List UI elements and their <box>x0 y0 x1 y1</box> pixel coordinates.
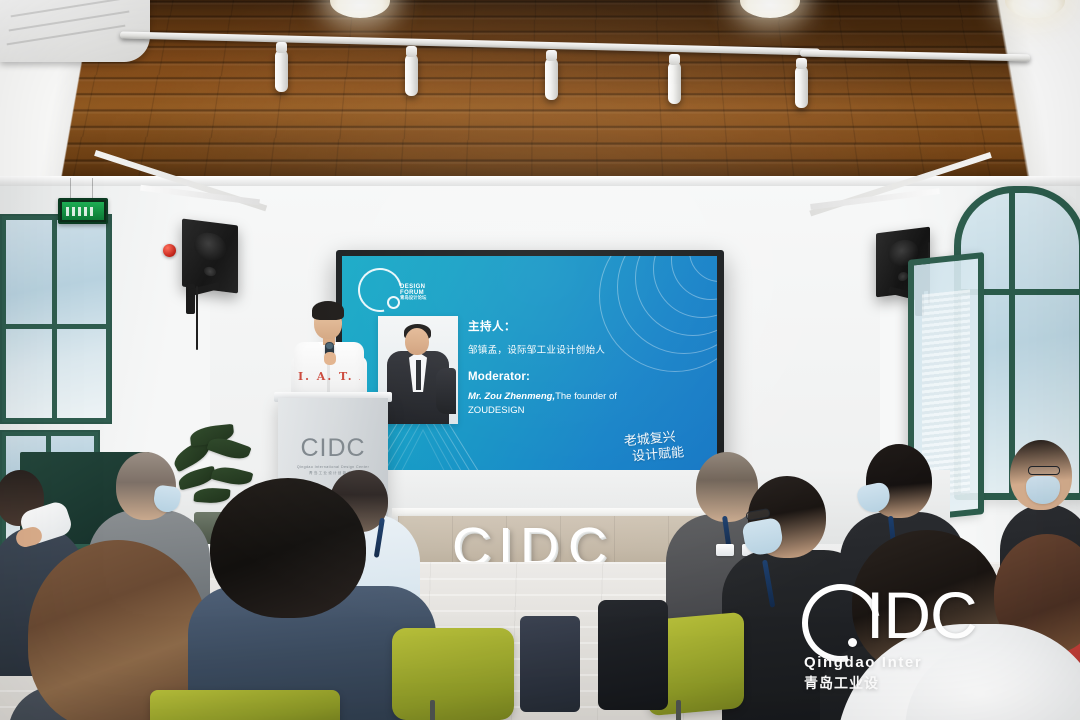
photo-head <box>405 328 429 355</box>
presenter-hand <box>324 352 336 365</box>
photo-tie <box>416 360 421 390</box>
conference-photo-scene: DESIGN FORUM 青岛设计论坛 主持人： 邹镇孟，设际邹工业设计创始人 … <box>0 0 1080 720</box>
photo-arm <box>436 368 456 414</box>
window-mullion <box>52 220 57 418</box>
exit-sign-wire <box>70 178 71 200</box>
presenter-speaking: I. A. T. A. <box>292 300 366 404</box>
watermark-english: Qingdao Inter <box>804 654 922 671</box>
wood-grain-overlay <box>0 0 1080 188</box>
speaker-left <box>182 219 238 294</box>
speaker-tweeter <box>898 272 909 282</box>
chair-front-left <box>150 690 340 720</box>
presenter-hair <box>312 301 344 320</box>
window-mullion <box>6 324 106 329</box>
moderator-photo <box>378 316 458 424</box>
chair-leg <box>676 700 681 720</box>
track-spotlight <box>545 58 558 100</box>
watermark-c-dot <box>848 638 857 647</box>
slide-canvas: DESIGN FORUM 青岛设计论坛 主持人： 邹镇孟，设际邹工业设计创始人 … <box>342 256 717 492</box>
podium-logo-subtitle-en: Qingdao International Design Center <box>296 465 370 469</box>
slide-text-block: 主持人： 邹镇孟，设际邹工业设计创始人 Moderator: Mr. Zou Z… <box>468 318 707 418</box>
attendee-glasses <box>1028 466 1060 475</box>
chair-leg <box>430 700 435 720</box>
watermark-chinese: 青岛工业设 <box>804 673 879 693</box>
track-spotlight <box>405 54 418 96</box>
design-forum-logo-text: DESIGN FORUM 青岛设计论坛 <box>400 284 426 301</box>
slide-en-name: Mr. Zou Zhenmeng, <box>468 391 555 402</box>
slide-en-body-1: The founder of <box>555 391 617 402</box>
track-spotlight <box>668 62 681 104</box>
track-spotlight <box>275 50 288 92</box>
wood-plank-ceiling <box>0 0 1080 188</box>
slide-cn-heading: 主持人： <box>468 318 707 334</box>
fire-alarm-light <box>163 244 176 257</box>
speaker-tweeter <box>204 266 215 277</box>
speaker-cable-left <box>196 286 198 350</box>
podium-logo-text: CIDC <box>296 436 370 461</box>
logo-dot <box>387 296 400 309</box>
exit-sign-wire <box>92 178 93 200</box>
track-spotlight <box>795 66 808 108</box>
ceiling-right-soffit <box>970 0 1080 200</box>
attendee-bag <box>520 616 580 712</box>
chair-center <box>392 628 514 720</box>
slide-en-heading: Moderator: <box>468 371 707 383</box>
slide-en-body: Mr. Zou Zhenmeng,The founder of ZOUDESIG… <box>468 390 707 418</box>
logo-line-3-cn: 青岛设计论坛 <box>400 296 426 300</box>
attendee-bag <box>598 600 668 710</box>
window-left-upper <box>0 214 112 424</box>
audience-member-front-center-man <box>196 478 420 720</box>
ceiling-region <box>0 0 1080 200</box>
slide-cn-body: 邹镇孟，设际邹工业设计创始人 <box>468 342 707 356</box>
attendee-head <box>210 478 366 618</box>
watermark-letters: IDC <box>866 582 977 648</box>
exit-sign <box>58 198 108 224</box>
exit-sign-face <box>62 202 104 220</box>
presenter-shirt-text: I. A. T. A. <box>298 370 360 384</box>
speaker-woofer <box>194 231 225 262</box>
slide-en-body-2: ZOUDESIGN <box>468 405 524 416</box>
